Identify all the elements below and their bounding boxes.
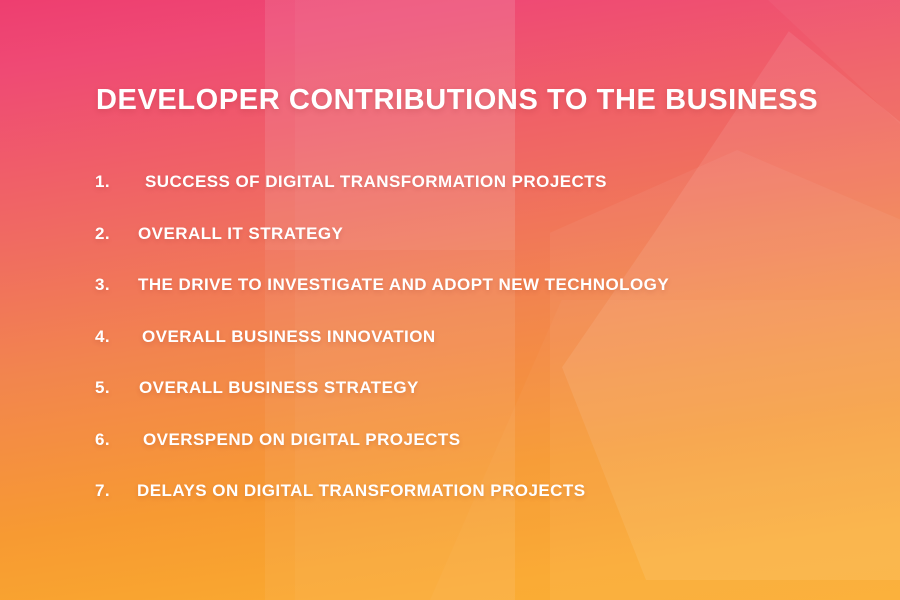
slide-title: DEVELOPER CONTRIBUTIONS TO THE BUSINESS [96,84,818,117]
list-item-label: SUCCESS OF DIGITAL TRANSFORMATION PROJEC… [123,172,607,192]
list-item: 6. OVERSPEND ON DIGITAL PROJECTS [0,430,900,482]
list-item: 1. SUCCESS OF DIGITAL TRANSFORMATION PRO… [0,172,900,224]
slide-canvas: DEVELOPER CONTRIBUTIONS TO THE BUSINESS … [0,0,900,600]
list-item-number: 1. [95,172,123,192]
list-item-label: OVERALL BUSINESS STRATEGY [123,378,419,398]
list-item-number: 2. [95,224,123,244]
list-item-label: DELAYS ON DIGITAL TRANSFORMATION PROJECT… [123,481,586,501]
list-item: 7. DELAYS ON DIGITAL TRANSFORMATION PROJ… [0,481,900,533]
list-item-number: 3. [95,275,123,295]
list-item-label: OVERSPEND ON DIGITAL PROJECTS [123,430,461,450]
list-item-label: OVERALL BUSINESS INNOVATION [123,327,436,347]
list-item-number: 5. [95,378,123,398]
list-item-label: OVERALL IT STRATEGY [123,224,343,244]
list-item-number: 4. [95,327,123,347]
list-item: 4. OVERALL BUSINESS INNOVATION [0,327,900,379]
list-item: 5. OVERALL BUSINESS STRATEGY [0,378,900,430]
slide-content: DEVELOPER CONTRIBUTIONS TO THE BUSINESS … [0,0,900,600]
list-item-number: 6. [95,430,123,450]
list-item: 2. OVERALL IT STRATEGY [0,224,900,276]
list-item: 3. THE DRIVE TO INVESTIGATE AND ADOPT NE… [0,275,900,327]
contributions-list: 1. SUCCESS OF DIGITAL TRANSFORMATION PRO… [0,172,900,533]
list-item-label: THE DRIVE TO INVESTIGATE AND ADOPT NEW T… [123,275,669,295]
list-item-number: 7. [95,481,123,501]
